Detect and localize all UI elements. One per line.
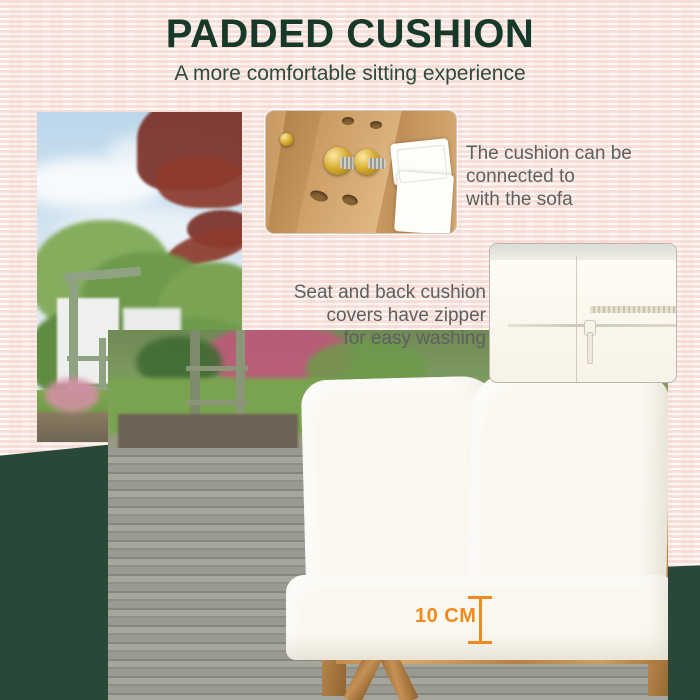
callout-line: covers have zipper [248, 304, 486, 327]
callout-zipper-washing: Seat and back cushion covers have zipper… [248, 281, 486, 351]
callout-cushion-connection: The cushion can be connected to with the… [466, 142, 698, 212]
marker-cap-bottom [468, 641, 492, 644]
callout-line: The cushion can be [466, 142, 698, 165]
zipper-teeth [590, 306, 677, 313]
screw-hole [370, 121, 382, 129]
callout-line: for easy washing [248, 327, 486, 350]
flower-bush [45, 378, 99, 412]
cushion-top-edge [490, 244, 676, 260]
screw-hole [342, 117, 354, 125]
page-title: PADDED CUSHION [0, 14, 700, 54]
zipper-detail-photo [489, 243, 677, 383]
zipper-pull-tab [587, 332, 593, 364]
corner-sofa-cushion-photo [108, 330, 668, 700]
brass-bolt [280, 133, 293, 146]
pergola-rail [67, 356, 109, 361]
product-banner: PADDED CUSHION A more comfortable sittin… [0, 0, 700, 700]
pergola-rail [186, 366, 248, 371]
maple-foliage [157, 156, 242, 208]
header-block: PADDED CUSHION A more comfortable sittin… [0, 14, 700, 84]
fabric-seam [576, 256, 577, 382]
marker-bar [479, 596, 482, 644]
dimension-marker-icon [468, 596, 492, 644]
bolt-hardware-detail-photo [265, 110, 457, 234]
callout-line: connected to [466, 165, 698, 188]
page-subtitle: A more comfortable sitting experience [0, 63, 700, 84]
callout-line: with the sofa [466, 188, 698, 211]
callout-line: Seat and back cushion [248, 281, 486, 304]
pergola-rail [186, 400, 248, 405]
strap-stitching [396, 145, 447, 184]
bolt-shaft [368, 158, 386, 169]
